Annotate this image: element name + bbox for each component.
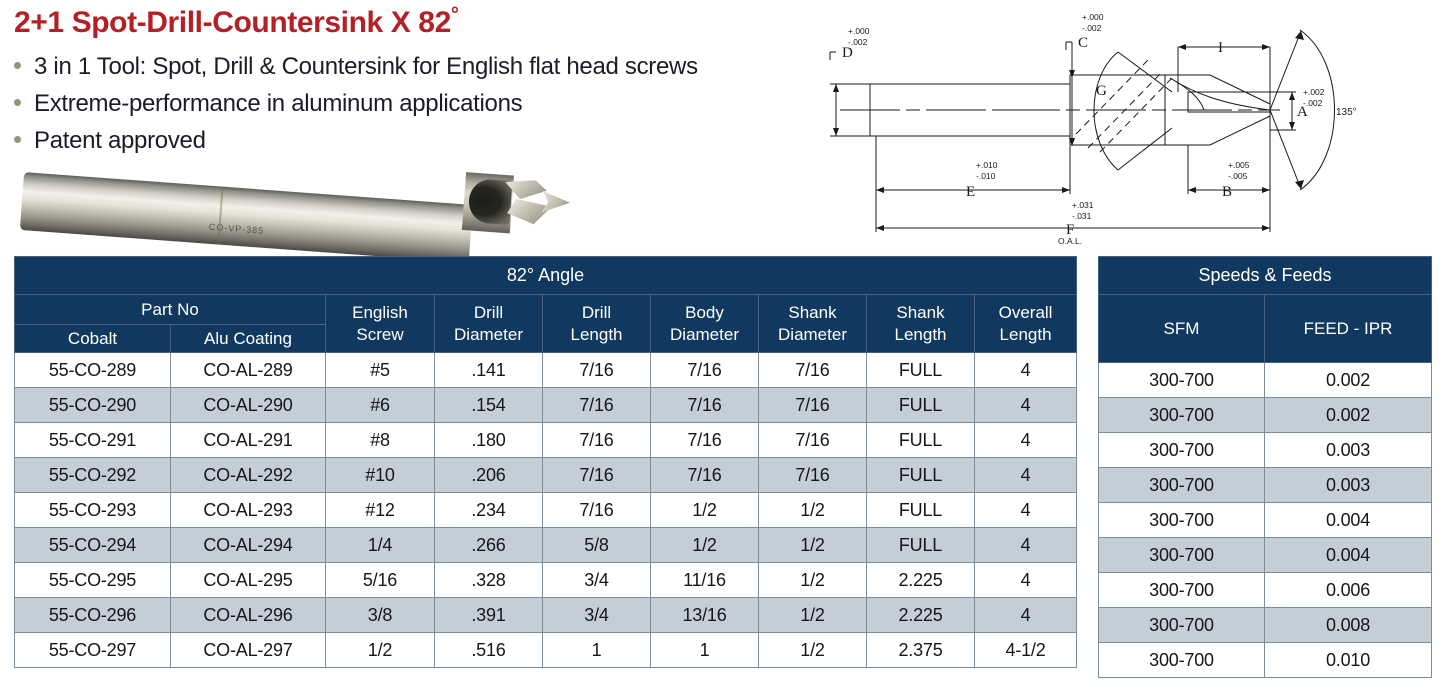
cell-shank-length: 2.375 xyxy=(867,633,975,668)
dim-label-oal: O.A.L. xyxy=(1058,236,1082,246)
cell-alu-coating: CO-AL-292 xyxy=(171,458,326,493)
cell-english-screw: 3/8 xyxy=(326,598,435,633)
cell-shank-length: FULL xyxy=(867,458,975,493)
cell-sfm: 300-700 xyxy=(1099,468,1265,503)
cell-shank-diameter: 1/2 xyxy=(759,528,867,563)
table-row: 300-7000.010 xyxy=(1099,643,1432,678)
cell-english-screw: 1/2 xyxy=(326,633,435,668)
tool-shank-body: CO-VP-385 xyxy=(20,172,473,263)
dim-label-e: E xyxy=(966,184,975,200)
column-header-overall-length: Overall Length xyxy=(975,295,1077,353)
cell-alu-coating: CO-AL-289 xyxy=(171,353,326,388)
table-row: 55-CO-297CO-AL-2971/2.516111/22.3754-1/2 xyxy=(15,633,1077,668)
header-line-2: Length xyxy=(543,324,650,346)
cell-cobalt: 55-CO-294 xyxy=(15,528,171,563)
tol-e-minus: -.010 xyxy=(976,171,996,181)
page-title: 2+1 Spot-Drill-Countersink X 82° xyxy=(14,0,814,43)
table-row: 55-CO-295CO-AL-2955/16.3283/411/161/22.2… xyxy=(15,563,1077,598)
cell-sfm: 300-700 xyxy=(1099,643,1265,678)
header-line-1: Body xyxy=(651,302,758,324)
cell-sfm: 300-700 xyxy=(1099,433,1265,468)
cell-feed-ipr: 0.002 xyxy=(1265,398,1432,433)
cell-english-screw: #12 xyxy=(326,493,435,528)
cell-body-diameter: 7/16 xyxy=(651,423,759,458)
cell-feed-ipr: 0.008 xyxy=(1265,608,1432,643)
tol-a-plus: +.002 xyxy=(1303,87,1325,97)
table-group-title: 82° Angle xyxy=(15,257,1077,295)
column-header-drill-length: Drill Length xyxy=(543,295,651,353)
cell-feed-ipr: 0.004 xyxy=(1265,503,1432,538)
cell-overall-length: 4 xyxy=(975,353,1077,388)
table-row: 300-7000.003 xyxy=(1099,468,1432,503)
feature-bullet-list: 3 in 1 Tool: Spot, Drill & Countersink f… xyxy=(14,53,814,164)
cell-body-diameter: 1/2 xyxy=(651,528,759,563)
cell-drill-length: 7/16 xyxy=(543,388,651,423)
cell-drill-diameter: .328 xyxy=(435,563,543,598)
cell-overall-length: 4 xyxy=(975,493,1077,528)
cell-shank-length: FULL xyxy=(867,493,975,528)
column-header-cobalt: Cobalt xyxy=(15,325,171,353)
cell-drill-length: 5/8 xyxy=(543,528,651,563)
cell-english-screw: 5/16 xyxy=(326,563,435,598)
column-header-shank-length: Shank Length xyxy=(867,295,975,353)
cell-shank-diameter: 1/2 xyxy=(759,598,867,633)
cell-alu-coating: CO-AL-290 xyxy=(171,388,326,423)
cell-drill-diameter: .141 xyxy=(435,353,543,388)
cell-body-diameter: 1 xyxy=(651,633,759,668)
header-line-1: Drill xyxy=(435,302,542,324)
bullet-text: Patent approved xyxy=(34,127,206,155)
tol-b-plus: +.005 xyxy=(1228,160,1250,170)
specification-table-body: 55-CO-289CO-AL-289#5.1417/167/167/16FULL… xyxy=(15,353,1077,668)
cell-body-diameter: 7/16 xyxy=(651,458,759,493)
cell-cobalt: 55-CO-295 xyxy=(15,563,171,598)
cell-alu-coating: CO-AL-295 xyxy=(171,563,326,598)
cell-overall-length: 4 xyxy=(975,528,1077,563)
table-row: 300-7000.004 xyxy=(1099,503,1432,538)
cell-shank-length: 2.225 xyxy=(867,598,975,633)
cell-cobalt: 55-CO-289 xyxy=(15,353,171,388)
tol-a-minus: -.002 xyxy=(1303,98,1323,108)
cell-alu-coating: CO-AL-297 xyxy=(171,633,326,668)
cell-sfm: 300-700 xyxy=(1099,538,1265,573)
table-row: 55-CO-292CO-AL-292#10.2067/167/167/16FUL… xyxy=(15,458,1077,493)
cell-overall-length: 4 xyxy=(975,563,1077,598)
cell-cobalt: 55-CO-292 xyxy=(15,458,171,493)
cell-shank-diameter: 1/2 xyxy=(759,563,867,598)
list-item: Patent approved xyxy=(14,127,814,164)
column-header-sfm: SFM xyxy=(1099,295,1265,363)
product-datasheet-page: 2+1 Spot-Drill-Countersink X 82° 3 in 1 … xyxy=(0,0,1445,694)
cell-shank-diameter: 7/16 xyxy=(759,458,867,493)
cell-alu-coating: CO-AL-291 xyxy=(171,423,326,458)
cell-drill-diameter: .391 xyxy=(435,598,543,633)
engineering-drawing: D C G I A B E F O.A.L. 135° +.000 -.002 … xyxy=(800,0,1445,250)
dim-label-d: D xyxy=(842,45,853,61)
tol-f-plus: +.031 xyxy=(1072,200,1094,210)
drawing-svg: D C G I A B E F O.A.L. 135° +.000 -.002 … xyxy=(800,0,1445,250)
cell-english-screw: #5 xyxy=(326,353,435,388)
header-line-1: Overall xyxy=(975,302,1076,324)
cell-english-screw: 1/4 xyxy=(326,528,435,563)
header-line-1: Shank xyxy=(759,302,866,324)
speeds-feeds-group-title: Speeds & Feeds xyxy=(1099,257,1432,295)
cell-overall-length: 4 xyxy=(975,458,1077,493)
cell-cobalt: 55-CO-296 xyxy=(15,598,171,633)
cell-drill-diameter: .154 xyxy=(435,388,543,423)
bullet-text: Extreme-performance in aluminum applicat… xyxy=(34,90,522,118)
cell-sfm: 300-700 xyxy=(1099,608,1265,643)
cell-drill-diameter: .180 xyxy=(435,423,543,458)
cell-shank-length: FULL xyxy=(867,388,975,423)
cell-drill-diameter: .234 xyxy=(435,493,543,528)
column-header-english-screw: English Screw xyxy=(326,295,435,353)
column-header-feed-ipr: FEED - IPR xyxy=(1265,295,1432,363)
cell-body-diameter: 7/16 xyxy=(651,388,759,423)
tol-d-plus: +.000 xyxy=(848,26,870,36)
cell-drill-length: 7/16 xyxy=(543,353,651,388)
column-header-body-diameter: Body Diameter xyxy=(651,295,759,353)
specification-table: 82° Angle Part No English Screw Drill Di… xyxy=(14,256,1077,668)
header-line-2: Length xyxy=(975,324,1076,346)
table-row: 300-7000.002 xyxy=(1099,363,1432,398)
cell-shank-length: 2.225 xyxy=(867,563,975,598)
tol-d-minus: -.002 xyxy=(848,37,868,47)
bullet-dot-icon xyxy=(14,136,21,143)
cell-sfm: 300-700 xyxy=(1099,503,1265,538)
cell-drill-diameter: .266 xyxy=(435,528,543,563)
table-row: 55-CO-289CO-AL-289#5.1417/167/167/16FULL… xyxy=(15,353,1077,388)
cell-alu-coating: CO-AL-293 xyxy=(171,493,326,528)
tol-b-minus: -.005 xyxy=(1228,171,1248,181)
dim-label-b: B xyxy=(1222,184,1232,200)
dim-label-angle: 135° xyxy=(1336,107,1357,118)
bullet-dot-icon xyxy=(14,99,21,106)
column-group-part-no: Part No xyxy=(15,295,326,325)
header-line-2: Screw xyxy=(326,324,434,346)
column-header-shank-diameter: Shank Diameter xyxy=(759,295,867,353)
header-line-1: Drill xyxy=(543,302,650,324)
column-header-alu-coating: Alu Coating xyxy=(171,325,326,353)
cell-feed-ipr: 0.003 xyxy=(1265,433,1432,468)
cell-body-diameter: 13/16 xyxy=(651,598,759,633)
tool-blade-lower xyxy=(506,198,552,225)
header-line-2: Diameter xyxy=(435,324,542,346)
cell-shank-length: FULL xyxy=(867,528,975,563)
degree-symbol: ° xyxy=(451,4,459,26)
cell-cobalt: 55-CO-293 xyxy=(15,493,171,528)
cell-alu-coating: CO-AL-296 xyxy=(171,598,326,633)
cell-sfm: 300-700 xyxy=(1099,573,1265,608)
table-row: 55-CO-296CO-AL-2963/8.3913/413/161/22.22… xyxy=(15,598,1077,633)
cell-shank-diameter: 7/16 xyxy=(759,388,867,423)
cell-body-diameter: 7/16 xyxy=(651,353,759,388)
cell-overall-length: 4-1/2 xyxy=(975,633,1077,668)
table-row: 300-7000.004 xyxy=(1099,538,1432,573)
cell-body-diameter: 1/2 xyxy=(651,493,759,528)
cell-overall-length: 4 xyxy=(975,423,1077,458)
cell-drill-length: 3/4 xyxy=(543,563,651,598)
cell-drill-diameter: .516 xyxy=(435,633,543,668)
table-row: 55-CO-291CO-AL-291#8.1807/167/167/16FULL… xyxy=(15,423,1077,458)
list-item: Extreme-performance in aluminum applicat… xyxy=(14,90,814,127)
header-line-2: Length xyxy=(867,324,974,346)
cell-alu-coating: CO-AL-294 xyxy=(171,528,326,563)
dim-label-c: C xyxy=(1078,35,1088,51)
cell-english-screw: #10 xyxy=(326,458,435,493)
cell-cobalt: 55-CO-297 xyxy=(15,633,171,668)
tol-c-plus: +.000 xyxy=(1082,12,1104,22)
bullet-dot-icon xyxy=(14,62,21,69)
cell-sfm: 300-700 xyxy=(1099,398,1265,433)
cell-body-diameter: 11/16 xyxy=(651,563,759,598)
cell-feed-ipr: 0.010 xyxy=(1265,643,1432,678)
cell-shank-length: FULL xyxy=(867,423,975,458)
table-row: 300-7000.008 xyxy=(1099,608,1432,643)
tool-blade-upper xyxy=(504,178,547,201)
dim-label-i: I xyxy=(1218,40,1223,56)
product-photo: CO-VP-385 xyxy=(14,164,594,250)
table-row: 55-CO-290CO-AL-290#6.1547/167/167/16FULL… xyxy=(15,388,1077,423)
tool-etched-label: CO-VP-385 xyxy=(208,222,264,236)
dim-label-g: G xyxy=(1096,83,1107,99)
cell-sfm: 300-700 xyxy=(1099,363,1265,398)
cell-shank-diameter: 7/16 xyxy=(759,353,867,388)
cell-drill-length: 7/16 xyxy=(543,423,651,458)
cell-shank-diameter: 1/2 xyxy=(759,633,867,668)
table-row: 300-7000.003 xyxy=(1099,433,1432,468)
cell-shank-diameter: 1/2 xyxy=(759,493,867,528)
tol-e-plus: +.010 xyxy=(976,160,998,170)
cell-overall-length: 4 xyxy=(975,598,1077,633)
cell-overall-length: 4 xyxy=(975,388,1077,423)
tol-f-minus: -.031 xyxy=(1072,211,1092,221)
speeds-feeds-table-body: 300-7000.002300-7000.002300-7000.003300-… xyxy=(1099,363,1432,678)
cell-shank-length: FULL xyxy=(867,353,975,388)
cell-shank-diameter: 7/16 xyxy=(759,423,867,458)
cell-drill-length: 7/16 xyxy=(543,493,651,528)
table-row: 300-7000.002 xyxy=(1099,398,1432,433)
page-title-text: 2+1 Spot-Drill-Countersink X 82 xyxy=(14,6,451,39)
product-intro-section: 2+1 Spot-Drill-Countersink X 82° 3 in 1 … xyxy=(14,0,814,250)
cell-drill-length: 3/4 xyxy=(543,598,651,633)
list-item: 3 in 1 Tool: Spot, Drill & Countersink f… xyxy=(14,53,814,90)
cell-feed-ipr: 0.004 xyxy=(1265,538,1432,573)
cell-cobalt: 55-CO-291 xyxy=(15,423,171,458)
table-row: 55-CO-293CO-AL-293#12.2347/161/21/2FULL4 xyxy=(15,493,1077,528)
speeds-feeds-table: Speeds & Feeds SFM FEED - IPR 300-7000.0… xyxy=(1098,256,1432,678)
cell-drill-length: 7/16 xyxy=(543,458,651,493)
countersink-curve xyxy=(1170,78,1270,110)
cell-feed-ipr: 0.002 xyxy=(1265,363,1432,398)
cell-drill-length: 1 xyxy=(543,633,651,668)
cell-cobalt: 55-CO-290 xyxy=(15,388,171,423)
tool-countersink-tip xyxy=(502,176,575,229)
cell-feed-ipr: 0.006 xyxy=(1265,573,1432,608)
bullet-text: 3 in 1 Tool: Spot, Drill & Countersink f… xyxy=(34,53,698,81)
header-line-2: Diameter xyxy=(759,324,866,346)
cell-feed-ipr: 0.003 xyxy=(1265,468,1432,503)
table-row: 300-7000.006 xyxy=(1099,573,1432,608)
column-header-drill-diameter: Drill Diameter xyxy=(435,295,543,353)
header-line-1: Shank xyxy=(867,302,974,324)
flute-arc-left xyxy=(1094,52,1118,170)
cell-english-screw: #6 xyxy=(326,388,435,423)
tol-c-minus: -.002 xyxy=(1082,23,1102,33)
header-line-1: English xyxy=(326,302,434,324)
cell-drill-diameter: .206 xyxy=(435,458,543,493)
cell-english-screw: #8 xyxy=(326,423,435,458)
table-row: 55-CO-294CO-AL-2941/4.2665/81/21/2FULL4 xyxy=(15,528,1077,563)
header-line-2: Diameter xyxy=(651,324,758,346)
